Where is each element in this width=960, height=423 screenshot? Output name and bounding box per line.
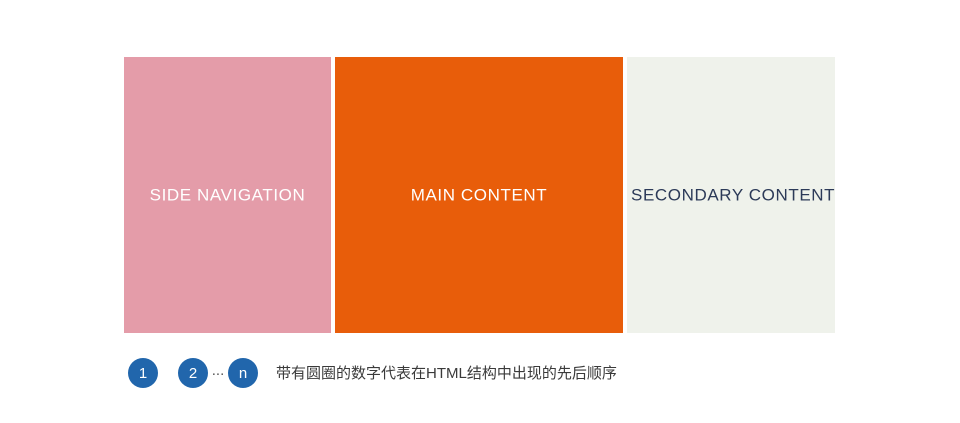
panel-secondary-content-label: SECONDARY CONTENT bbox=[631, 187, 835, 204]
panel-secondary-content[interactable]: SECONDARY CONTENT bbox=[627, 57, 835, 333]
legend-badge-1: 1 bbox=[128, 358, 158, 388]
legend-badge-n: n bbox=[228, 358, 258, 388]
legend-row: 1 2 ... n 带有圆圈的数字代表在HTML结构中出现的先后顺序 bbox=[128, 358, 617, 388]
legend-badge-2: 2 bbox=[178, 358, 208, 388]
panel-side-navigation[interactable]: SIDE NAVIGATION bbox=[124, 57, 331, 333]
legend-ellipsis: ... bbox=[208, 363, 228, 384]
panel-side-navigation-label: SIDE NAVIGATION bbox=[150, 187, 306, 204]
legend-caption: 带有圆圈的数字代表在HTML结构中出现的先后顺序 bbox=[276, 366, 617, 381]
layout-diagram: SIDE NAVIGATION MAIN CONTENT SECONDARY C… bbox=[0, 0, 960, 423]
panel-main-content-label: MAIN CONTENT bbox=[411, 187, 548, 204]
panel-main-content[interactable]: MAIN CONTENT bbox=[335, 57, 623, 333]
panel-row: SIDE NAVIGATION MAIN CONTENT SECONDARY C… bbox=[124, 57, 835, 333]
